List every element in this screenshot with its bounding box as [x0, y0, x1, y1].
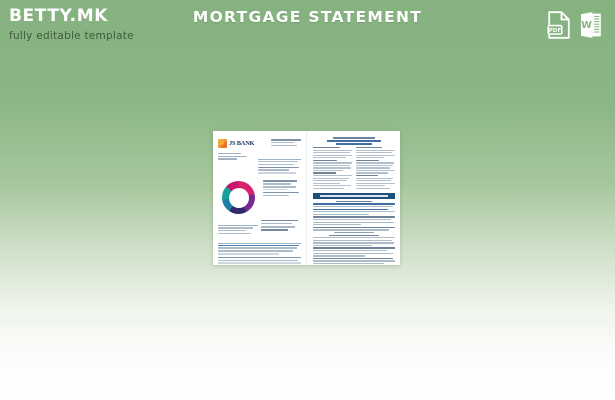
- terms-column-left: [313, 147, 352, 190]
- disclosure-body: [313, 201, 395, 265]
- terms-columns: [313, 147, 395, 190]
- donut-chart: [222, 181, 255, 214]
- transaction-history-box: [218, 218, 258, 235]
- document-preview-card[interactable]: JS BANK: [213, 131, 400, 265]
- right-page-heading: [313, 137, 395, 145]
- header-band: BETTY.MK fully editable template MORTGAG…: [0, 0, 615, 52]
- payment-slip-block: [218, 257, 301, 264]
- statement-meta-block: [271, 139, 301, 148]
- page-title: MORTGAGE STATEMENT: [0, 8, 615, 26]
- template-preview-page: BETTY.MK fully editable template MORTGAG…: [0, 0, 615, 400]
- svg-text:W: W: [581, 20, 592, 31]
- document-page-right[interactable]: [306, 131, 400, 265]
- payment-details-box: [263, 177, 301, 217]
- bank-name: JS BANK: [229, 140, 254, 147]
- bank-logo: JS BANK: [218, 139, 254, 148]
- section-banner: [313, 193, 395, 199]
- expense-breakdown-chart: [218, 177, 260, 217]
- customer-address-block: [218, 152, 254, 175]
- account-summary-box: [258, 152, 301, 175]
- brand-tagline: fully editable template: [9, 30, 239, 43]
- document-page-left[interactable]: JS BANK: [213, 131, 306, 265]
- format-icons-group: PDF W: [547, 11, 603, 39]
- svg-text:PDF: PDF: [549, 28, 562, 34]
- left-section-heading: [218, 220, 258, 226]
- pdf-file-icon[interactable]: PDF: [547, 11, 571, 39]
- notice-heading: [218, 238, 301, 244]
- js-bank-logo-icon: [218, 139, 227, 148]
- terms-column-right: [356, 147, 395, 190]
- amounts-table: [261, 218, 301, 235]
- notice-block: [218, 238, 301, 255]
- word-file-icon[interactable]: W: [579, 11, 603, 39]
